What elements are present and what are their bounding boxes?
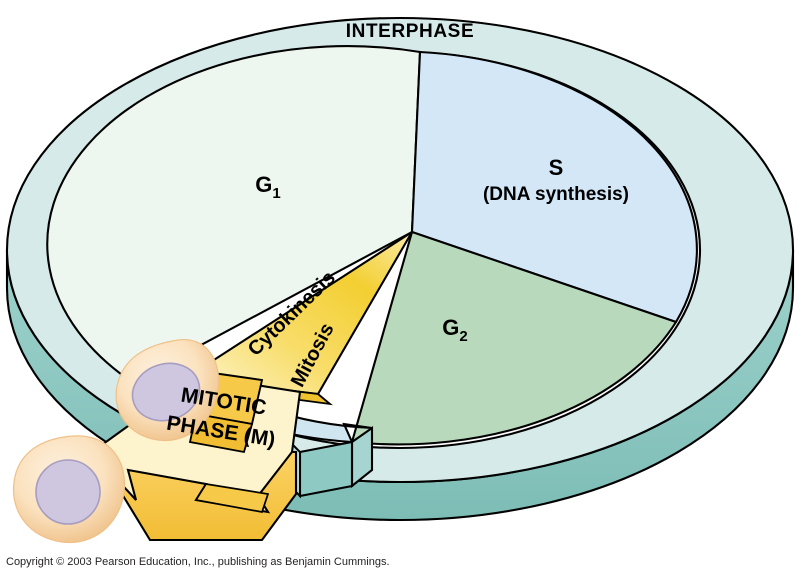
cell-cycle-diagram: INTERPHASE G1 S (DNA synthesis) G2 Cytok… (0, 0, 800, 580)
label-s: S (549, 155, 564, 180)
label-s-detail: (DNA synthesis) (483, 184, 629, 205)
label-interphase: INTERPHASE (346, 21, 474, 42)
copyright-notice: Copyright © 2003 Pearson Education, Inc.… (6, 556, 390, 568)
daughter-cell-lower (13, 436, 124, 543)
nucleus-lower (36, 460, 100, 524)
sector-g1 (47, 46, 420, 382)
cell-cycle-figure: INTERPHASE G1 S (DNA synthesis) G2 Cytok… (0, 0, 800, 580)
